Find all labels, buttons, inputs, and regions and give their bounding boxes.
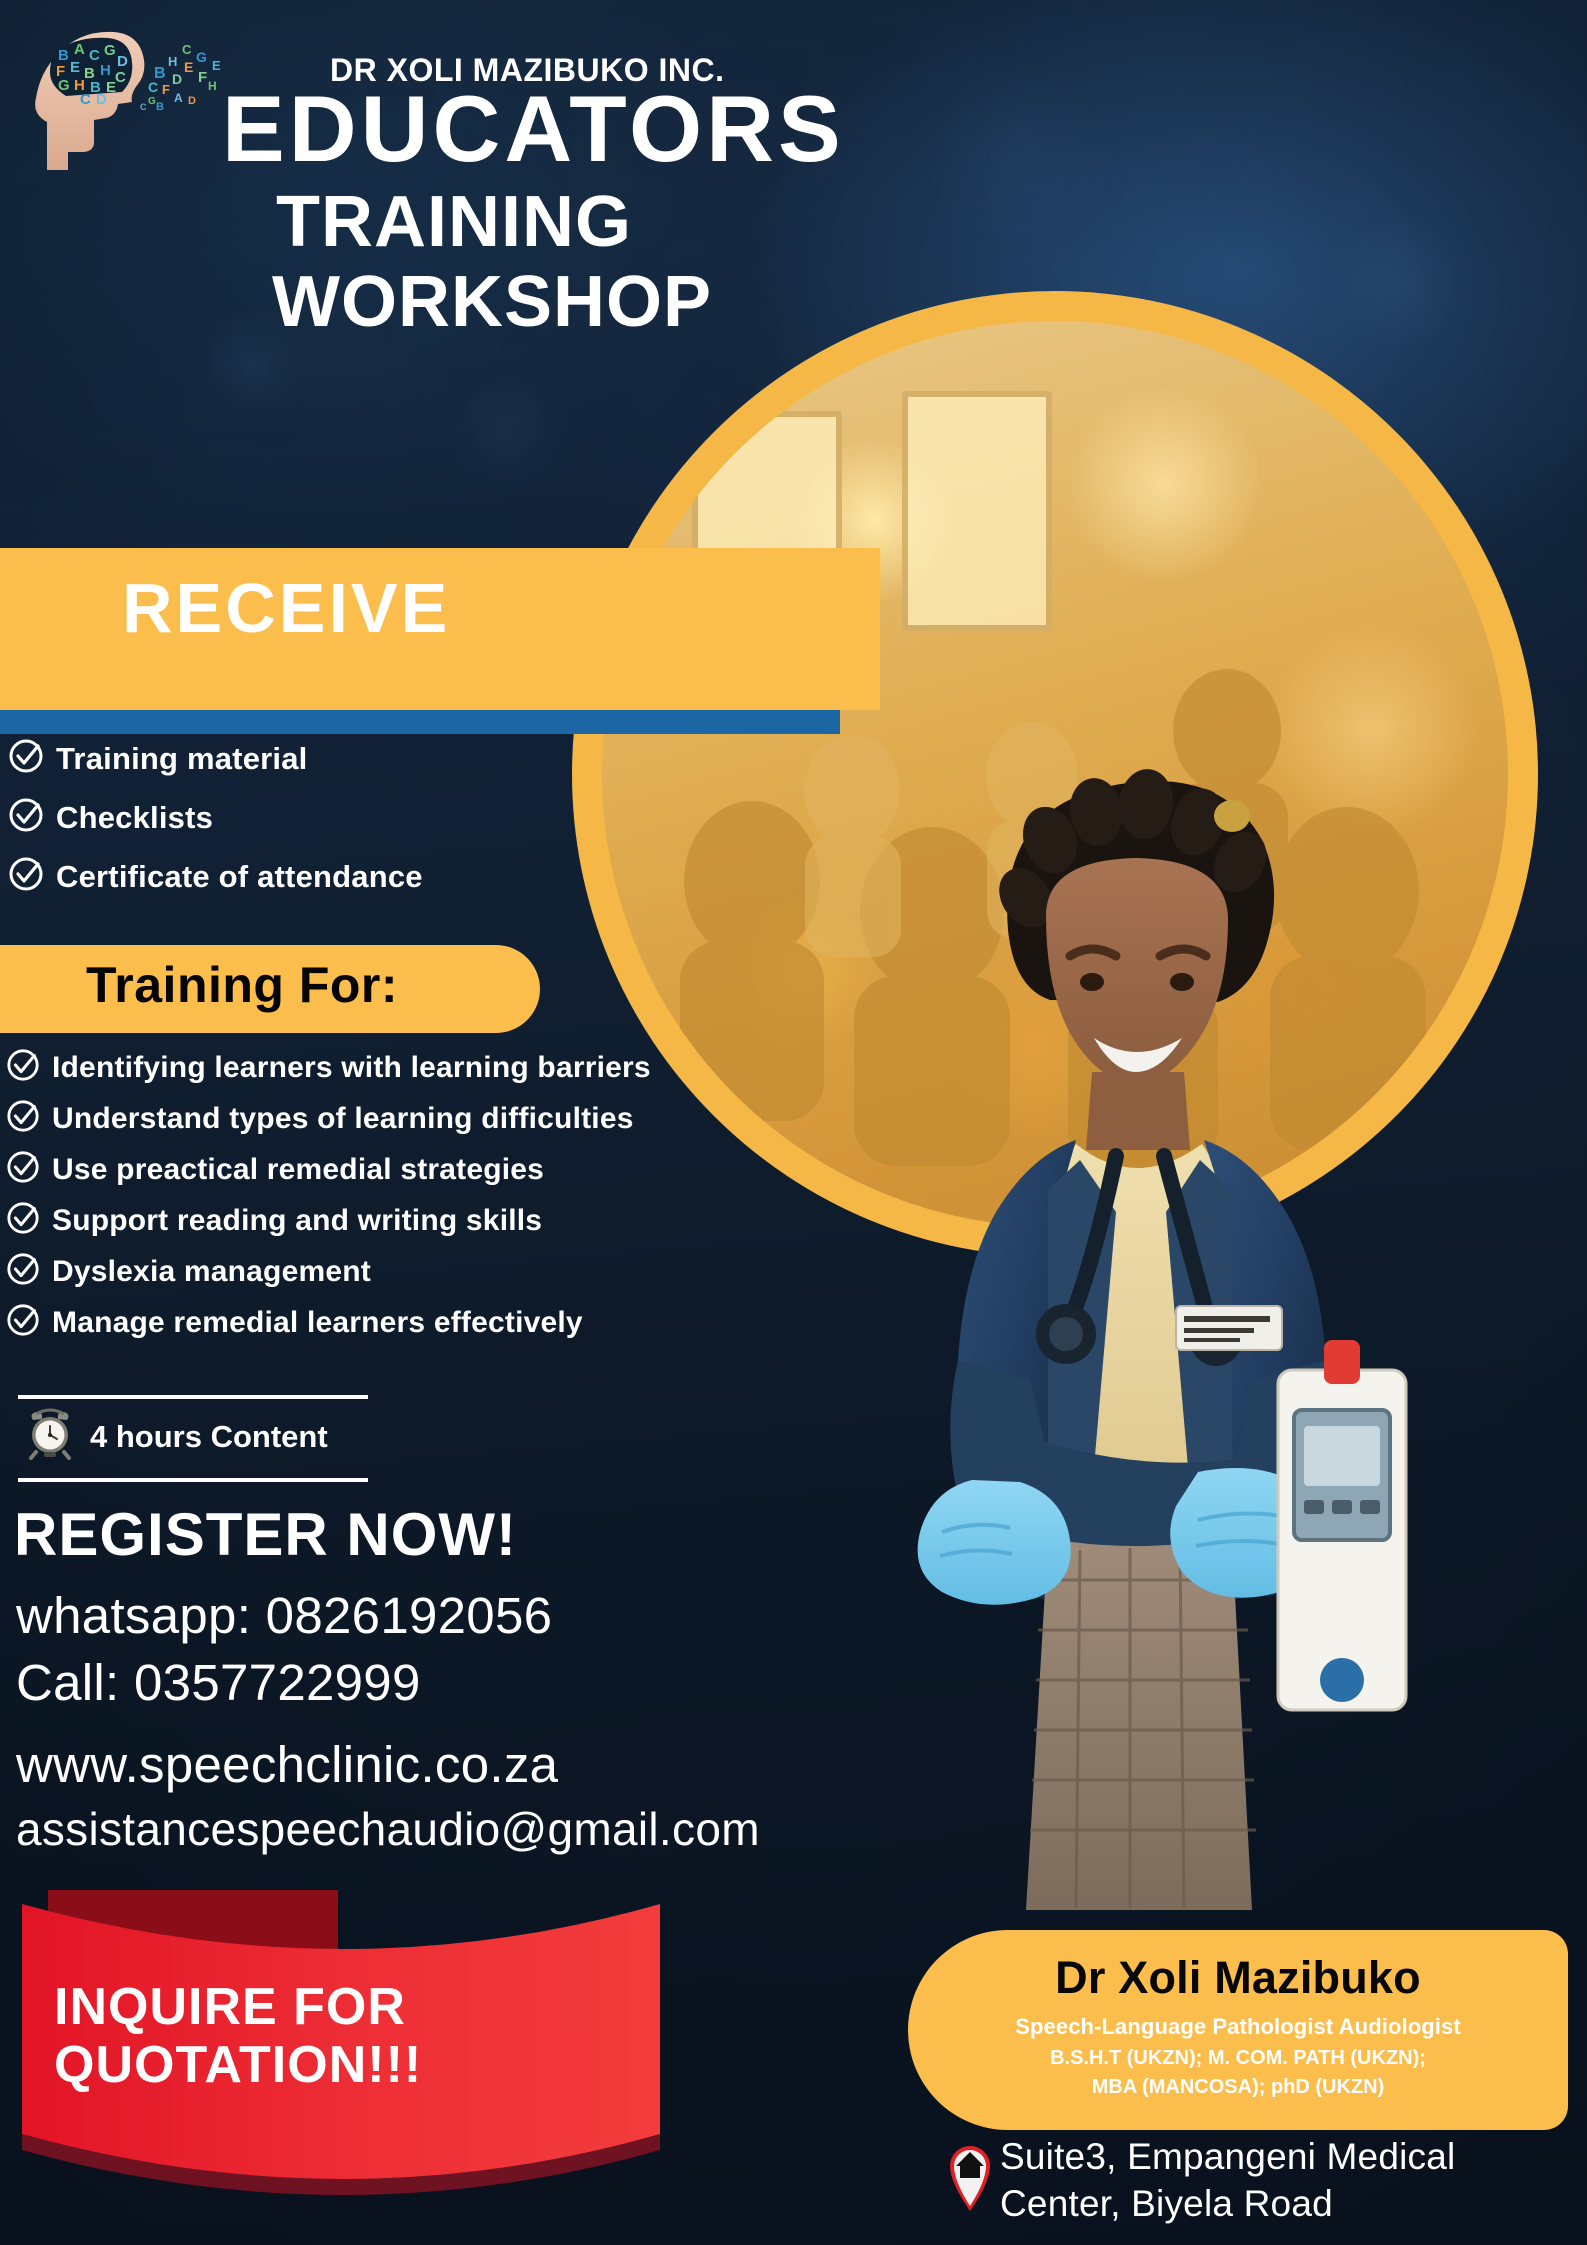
svg-text:G: G <box>196 49 207 65</box>
inquire-line2: QUOTATION!!! <box>54 2036 614 2094</box>
svg-text:E: E <box>106 79 116 96</box>
list-item: Checklists <box>8 797 648 838</box>
list-item-label: Training material <box>56 741 307 777</box>
svg-text:D: D <box>188 95 196 107</box>
list-item: Identifying learners with learning barri… <box>6 1048 706 1087</box>
receive-underline-bar <box>0 710 840 734</box>
training-for-heading: Training For: <box>86 956 398 1014</box>
check-circle-icon <box>8 738 44 779</box>
training-for-list: Identifying learners with learning barri… <box>6 1048 706 1354</box>
divider-top <box>18 1395 368 1399</box>
svg-text:E: E <box>212 58 221 73</box>
svg-text:H: H <box>168 54 177 69</box>
svg-text:C: C <box>89 47 100 64</box>
whatsapp-line[interactable]: whatsapp: 0826192056 <box>16 1582 876 1649</box>
svg-text:B: B <box>154 65 166 82</box>
check-circle-icon <box>6 1201 40 1240</box>
qualifications-line1: B.S.H.T (UKZN); M. COM. PATH (UKZN); <box>908 2044 1568 2073</box>
website-line[interactable]: www.speechclinic.co.za <box>16 1731 876 1798</box>
list-item-label: Checklists <box>56 800 213 836</box>
svg-text:D: D <box>96 91 107 108</box>
email-line[interactable]: assistancespeechaudio@gmail.com <box>16 1798 876 1860</box>
list-item-label: Use preactical remedial strategies <box>52 1153 544 1187</box>
svg-text:D: D <box>172 71 182 87</box>
svg-text:D: D <box>117 53 128 70</box>
duration-label: 4 hours Content <box>90 1419 328 1455</box>
svg-text:E: E <box>70 59 80 76</box>
address-block: Suite3, Empangeni Medical Center, Biyela… <box>1000 2134 1580 2227</box>
page-title-line1: EDUCATORS <box>222 82 845 176</box>
check-circle-icon <box>6 1252 40 1291</box>
list-item-label: Certificate of attendance <box>56 859 423 895</box>
receive-heading: RECEIVE <box>122 568 450 648</box>
register-now-heading: REGISTER NOW! <box>14 1500 517 1569</box>
speech-brain-head-icon: B A C G D F E B H C G H B E C D C G B <box>22 10 242 170</box>
svg-text:F: F <box>198 69 207 86</box>
list-item: Manage remedial learners effectively <box>6 1303 706 1342</box>
check-circle-icon <box>6 1150 40 1189</box>
presenter-photo <box>880 720 1587 2120</box>
svg-text:C: C <box>80 91 91 108</box>
check-circle-icon <box>6 1048 40 1087</box>
list-item-label: Identifying learners with learning barri… <box>52 1051 651 1085</box>
inquire-ribbon-text: INQUIRE FOR QUOTATION!!! <box>54 1978 614 2094</box>
inquire-line1: INQUIRE FOR <box>54 1978 614 2036</box>
svg-text:A: A <box>74 41 85 58</box>
list-item-label: Understand types of learning difficultie… <box>52 1102 634 1136</box>
svg-text:C: C <box>115 69 126 86</box>
alarm-clock-icon <box>24 1408 76 1465</box>
check-circle-icon <box>8 856 44 897</box>
divider-bottom <box>18 1478 368 1482</box>
check-circle-icon <box>6 1303 40 1342</box>
list-item-label: Manage remedial learners effectively <box>52 1306 583 1340</box>
list-item: Dyslexia management <box>6 1252 706 1291</box>
svg-text:G: G <box>58 77 70 94</box>
phone-line[interactable]: Call: 0357722999 <box>16 1649 876 1716</box>
qualifications-line2: MBA (MANCOSA); phD (UKZN) <box>908 2073 1568 2102</box>
svg-text:E: E <box>184 59 193 75</box>
svg-text:H: H <box>100 62 111 79</box>
svg-text:C: C <box>182 42 192 57</box>
contact-block: whatsapp: 0826192056 Call: 0357722999 ww… <box>16 1582 876 1860</box>
address-line1: Suite3, Empangeni Medical <box>1000 2134 1580 2181</box>
presenter-name-card: Dr Xoli Mazibuko Speech-Language Patholo… <box>908 1930 1568 2130</box>
svg-text:H: H <box>208 79 217 93</box>
list-item: Understand types of learning difficultie… <box>6 1099 706 1138</box>
list-item: Use preactical remedial strategies <box>6 1150 706 1189</box>
poster-root: B A C G D F E B H C G H B E C D C G B <box>0 0 1587 2245</box>
list-item-label: Dyslexia management <box>52 1255 371 1289</box>
list-item: Certificate of attendance <box>8 856 648 897</box>
list-item: Support reading and writing skills <box>6 1201 706 1240</box>
list-item: Training material <box>8 738 648 779</box>
page-title-line2: TRAINING <box>276 186 632 258</box>
receive-list: Training material Checklists Certificate… <box>8 738 648 915</box>
svg-text:F: F <box>162 82 170 97</box>
svg-text:B: B <box>58 47 69 64</box>
address-line2: Center, Biyela Road <box>1000 2181 1580 2228</box>
svg-text:G: G <box>104 42 116 59</box>
check-circle-icon <box>6 1099 40 1138</box>
presenter-role: Speech-Language Pathologist Audiologist <box>908 2014 1568 2040</box>
duration-row: 4 hours Content <box>24 1408 328 1465</box>
presenter-qualifications: B.S.H.T (UKZN); M. COM. PATH (UKZN); MBA… <box>908 2044 1568 2102</box>
svg-text:A: A <box>174 91 183 105</box>
check-circle-icon <box>8 797 44 838</box>
svg-text:C: C <box>140 102 147 112</box>
presenter-name: Dr Xoli Mazibuko <box>908 1952 1568 2004</box>
home-map-pin-icon <box>942 2138 998 2212</box>
svg-text:B: B <box>156 101 164 113</box>
svg-text:G: G <box>148 96 156 107</box>
list-item-label: Support reading and writing skills <box>52 1204 542 1238</box>
